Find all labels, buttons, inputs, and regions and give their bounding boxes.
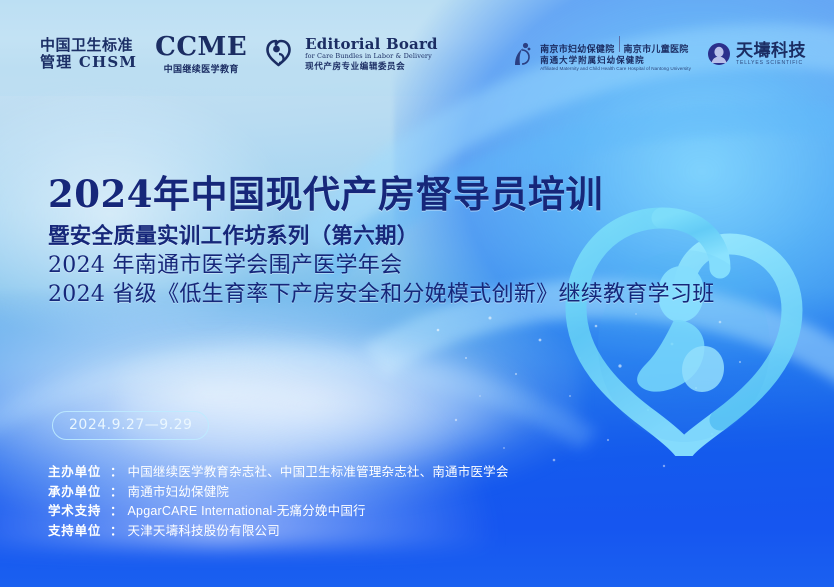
organizer-row: 学术支持 ： ApgarCARE International-无痛分娩中国行 — [48, 502, 509, 522]
poster-main-title: 2024年中国现代产房督导员培训 — [48, 164, 603, 218]
logo-editorial-board: Editorial Board for Care Bundles in Labo… — [265, 36, 438, 72]
poster-subtitles: 暨安全质量实训工作坊系列（第六期） 2024 年南通市医学会围产医学年会 202… — [48, 222, 715, 309]
poster-subtitle-1: 暨安全质量实训工作坊系列（第六期） — [48, 222, 715, 251]
logo-chsm-line2: 管理 CHSM — [40, 54, 137, 71]
tellyes-mark-icon — [707, 42, 731, 66]
poster-subtitle-2: 2024 年南通市医学会围产医学年会 — [48, 251, 715, 280]
logo-chsm: 中国卫生标准 管理 CHSM — [40, 37, 137, 71]
organizer-value: 中国继续医学教育杂志社、中国卫生标准管理杂志社、南通市医学会 — [128, 463, 509, 483]
logo-ccme-subtitle: 中国继续医学教育 — [155, 62, 247, 75]
organizer-value: 天津天壔科技股份有限公司 — [128, 522, 280, 542]
poster-subtitle-3: 2024 省级《低生育率下产房安全和分娩模式创新》继续教育学习班 — [48, 280, 715, 309]
organizer-row: 支持单位 ： 天津天壔科技股份有限公司 — [48, 522, 509, 542]
organizer-colon: ： — [110, 502, 123, 522]
logo-eb-title: Editorial Board — [305, 36, 438, 53]
logo-eb-subtitle-en: for Care Bundles in Labor & Delivery — [305, 53, 438, 60]
organizer-label: 主办单位 — [48, 463, 110, 483]
conference-poster: 中国卫生标准 管理 CHSM CCME 中国继续医学教育 Editorial B… — [0, 0, 834, 587]
organizer-block: 主办单位 ： 中国继续医学教育杂志社、中国卫生标准管理杂志社、南通市医学会 承办… — [48, 463, 509, 541]
logo-chsm-line1: 中国卫生标准 — [40, 37, 137, 54]
logo-ccme: CCME 中国继续医学教育 — [155, 34, 247, 75]
organizer-label: 承办单位 — [48, 483, 110, 503]
logo-tellyes-cn: 天壔科技 — [736, 42, 806, 61]
logo-ccme-acronym: CCME — [155, 34, 247, 60]
logo-eb-subtitle-cn: 现代产房专业编辑委员会 — [305, 62, 438, 72]
logo-hosp-en-line: Affiliated Maternity and Child Health Ca… — [540, 66, 691, 71]
organizer-row: 主办单位 ： 中国继续医学教育杂志社、中国卫生标准管理杂志社、南通市医学会 — [48, 463, 509, 483]
organizer-colon: ： — [110, 463, 123, 483]
logo-hosp-cn-right: 南京市儿童医院 — [624, 45, 689, 56]
hospital-emblem-icon — [509, 39, 535, 69]
logo-hosp-cn-left: 南京市妇幼保健院 — [540, 45, 614, 56]
organizer-label: 支持单位 — [48, 522, 110, 542]
logo-tellyes: 天壔科技 TELLYES SCIENTIFIC — [707, 42, 806, 66]
organizer-value: 南通市妇幼保健院 — [128, 483, 230, 503]
top-logo-bar: 中国卫生标准 管理 CHSM CCME 中国继续医学教育 Editorial B… — [0, 22, 834, 86]
organizer-value: ApgarCARE International-无痛分娩中国行 — [128, 502, 366, 522]
logo-tellyes-en: TELLYES SCIENTIFIC — [736, 61, 806, 67]
heart-mother-child-mark-icon — [265, 37, 299, 71]
logo-hosp-divider — [619, 36, 620, 52]
organizer-colon: ： — [110, 522, 123, 542]
organizer-row: 承办单位 ： 南通市妇幼保健院 — [48, 483, 509, 503]
organizer-label: 学术支持 — [48, 502, 110, 522]
logo-hosp-cn-line2: 南通大学附属妇幼保健院 — [540, 56, 691, 66]
right-logo-group: 南京市妇幼保健院 南京市儿童医院 南通大学附属妇幼保健院 Affiliated … — [509, 36, 806, 71]
logo-nantong-hospital: 南京市妇幼保健院 南京市儿童医院 南通大学附属妇幼保健院 Affiliated … — [509, 36, 691, 71]
event-date-badge: 2024.9.27—9.29 — [52, 411, 209, 440]
organizer-colon: ： — [110, 483, 123, 503]
left-logo-group: 中国卫生标准 管理 CHSM CCME 中国继续医学教育 Editorial B… — [40, 34, 438, 75]
